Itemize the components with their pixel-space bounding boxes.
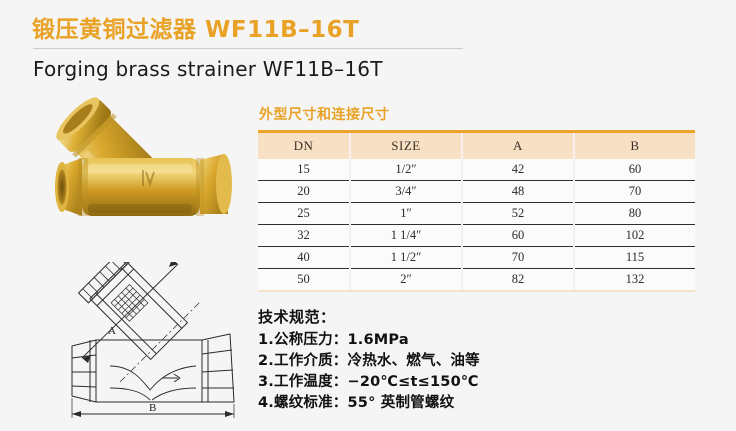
cell-b: 60 [574, 159, 695, 181]
table-row: 15 1/2″ 42 60 [258, 159, 695, 181]
table-row: 40 1 1/2″ 70 115 [258, 247, 695, 269]
cell-a: 82 [462, 269, 574, 292]
cell-dn: 25 [258, 203, 350, 225]
dimension-label-a: A [108, 325, 116, 337]
dimension-table-heading: 外型尺寸和连接尺寸 [259, 104, 390, 124]
cell-dn: 15 [258, 159, 350, 181]
cell-size: 1/2″ [350, 159, 462, 181]
cell-a: 70 [462, 247, 574, 269]
column-header-dn: DN [258, 132, 350, 160]
spec-item-working-medium: 2.工作介质：冷热水、燃气、油等 [258, 351, 480, 372]
cell-dn: 32 [258, 225, 350, 247]
cell-dn: 50 [258, 269, 350, 292]
technical-specifications: 技术规范： 1.公称压力：1.6MPa 2.工作介质：冷热水、燃气、油等 3.工… [258, 306, 480, 414]
cell-b: 80 [574, 203, 695, 225]
cell-size: 3/4″ [350, 181, 462, 203]
table-row: 32 1 1/4″ 60 102 [258, 225, 695, 247]
table-row: 50 2″ 82 132 [258, 269, 695, 292]
cell-size: 2″ [350, 269, 462, 292]
spec-item-thread-standard: 4.螺纹标准：55° 英制管螺纹 [258, 393, 480, 414]
page-title-chinese: 锻压黄铜过滤器 WF11B–16T [32, 10, 359, 44]
dimension-label-b: B [149, 402, 156, 414]
product-photo [42, 96, 248, 254]
page-title-english: Forging brass strainer WF11B–16T [33, 57, 383, 81]
table-row: 25 1″ 52 80 [258, 203, 695, 225]
cell-b: 115 [574, 247, 695, 269]
spec-item-working-temperature: 3.工作温度：−20℃≤t≤150℃ [258, 372, 480, 393]
table-row: 20 3/4″ 48 70 [258, 181, 695, 203]
column-header-a: A [462, 132, 574, 160]
dimension-table: DN SIZE A B 15 1/2″ 42 60 20 3/4″ 48 70 … [258, 130, 695, 292]
cell-b: 132 [574, 269, 695, 292]
cell-dn: 20 [258, 181, 350, 203]
cell-size: 1 1/4″ [350, 225, 462, 247]
cell-a: 52 [462, 203, 574, 225]
column-header-size: SIZE [350, 132, 462, 160]
cell-b: 102 [574, 225, 695, 247]
spec-item-nominal-pressure: 1.公称压力：1.6MPa [258, 330, 480, 351]
title-divider [33, 48, 463, 49]
column-header-b: B [574, 132, 695, 160]
cell-a: 48 [462, 181, 574, 203]
cell-a: 60 [462, 225, 574, 247]
cell-b: 70 [574, 181, 695, 203]
table-header-row: DN SIZE A B [258, 132, 695, 160]
cell-size: 1 1/2″ [350, 247, 462, 269]
cell-dn: 40 [258, 247, 350, 269]
technical-drawing: A B [50, 262, 262, 430]
cell-a: 42 [462, 159, 574, 181]
specifications-title: 技术规范： [258, 306, 480, 327]
cell-size: 1″ [350, 203, 462, 225]
